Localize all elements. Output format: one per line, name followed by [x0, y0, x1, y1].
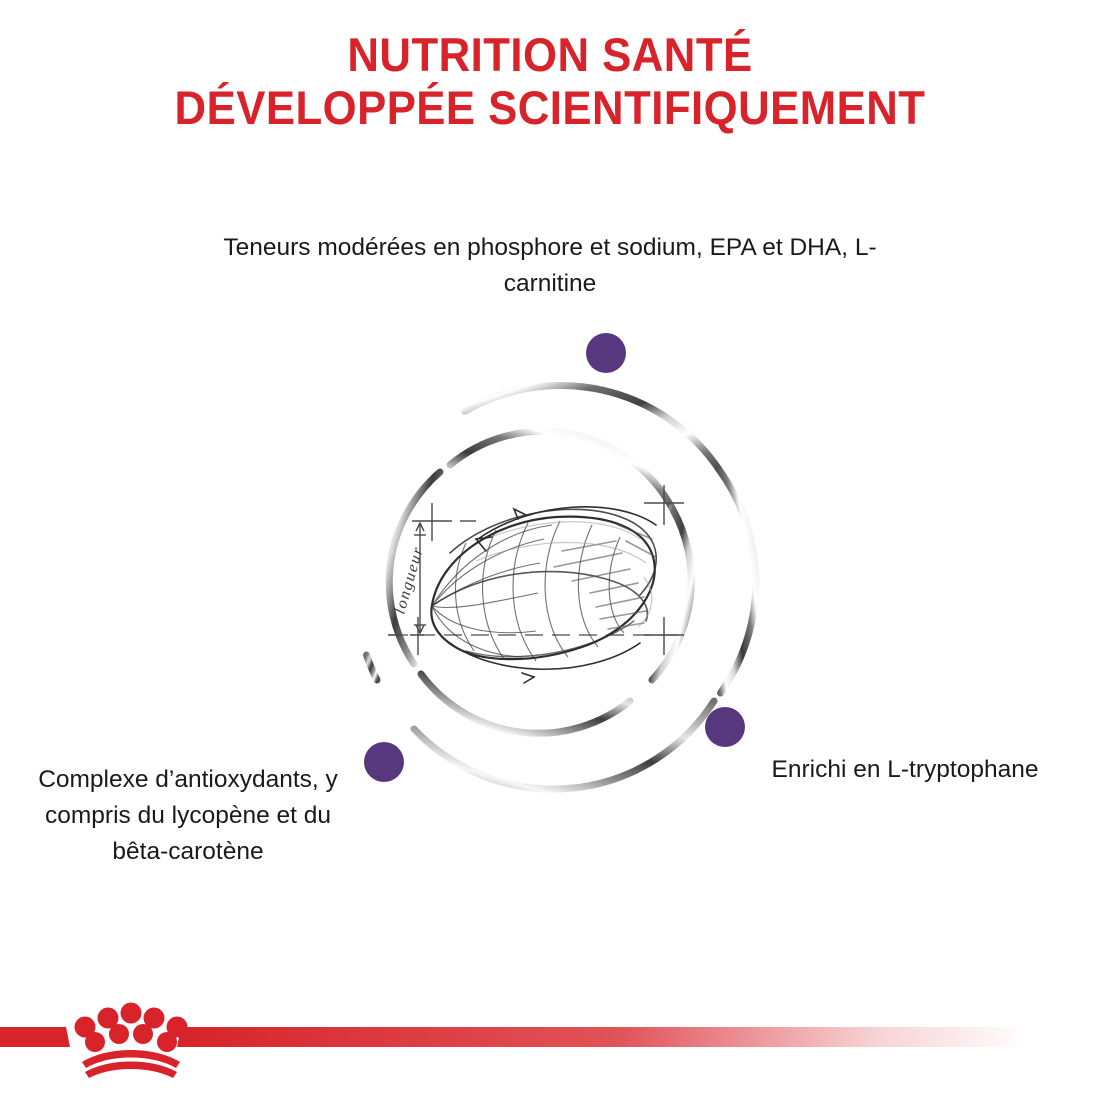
royal-canin-crown-logo — [75, 1003, 188, 1079]
dot-bottom-left[interactable] — [364, 742, 404, 782]
sketch-handwritten-label: longueur — [392, 544, 428, 616]
kibble-contour-lower — [466, 621, 634, 657]
inner-ring-arc-right — [652, 508, 691, 680]
kibble-contour-mid — [432, 572, 647, 621]
page-title: NUTRITION SANTÉ DÉVELOPPÉE SCIENTIFIQUEM… — [0, 28, 1100, 134]
footer-brand-bar — [0, 980, 1100, 1100]
footer-bar-left — [0, 1027, 70, 1047]
poster-root: NUTRITION SANTÉ DÉVELOPPÉE SCIENTIFIQUEM… — [0, 0, 1100, 1100]
outer-ring-arc-bottom — [414, 701, 714, 789]
callout-top-text: Teneurs modérées en phosphore et sodium,… — [180, 230, 920, 302]
dot-right[interactable] — [705, 707, 745, 747]
callout-left-text: Complexe d’antioxydants, y compris du ly… — [18, 762, 358, 870]
kibble-circular-diagram: longueur — [300, 325, 810, 835]
footer-bar-right — [177, 1027, 1030, 1047]
inner-ring-arc-top — [450, 431, 672, 508]
outer-ring-arc-left — [367, 655, 378, 680]
outer-ring-arc-right — [720, 471, 756, 693]
page-title-line-2: DÉVELOPPÉE SCIENTIFIQUEMENT — [39, 81, 1062, 134]
dot-top[interactable] — [586, 333, 626, 373]
page-title-line-1: NUTRITION SANTÉ — [39, 28, 1062, 81]
svg-text:longueur: longueur — [392, 544, 428, 616]
kibble-sketch: longueur — [388, 485, 684, 683]
sketch-dimension-lines — [388, 485, 684, 655]
inner-ring — [389, 431, 691, 733]
outer-ring-arc-top — [465, 386, 720, 471]
kibble-shading-hatch — [554, 525, 656, 629]
callout-right-text: Enrichi en L-tryptophane — [770, 752, 1040, 788]
kibble-guide-strokes — [476, 522, 652, 627]
